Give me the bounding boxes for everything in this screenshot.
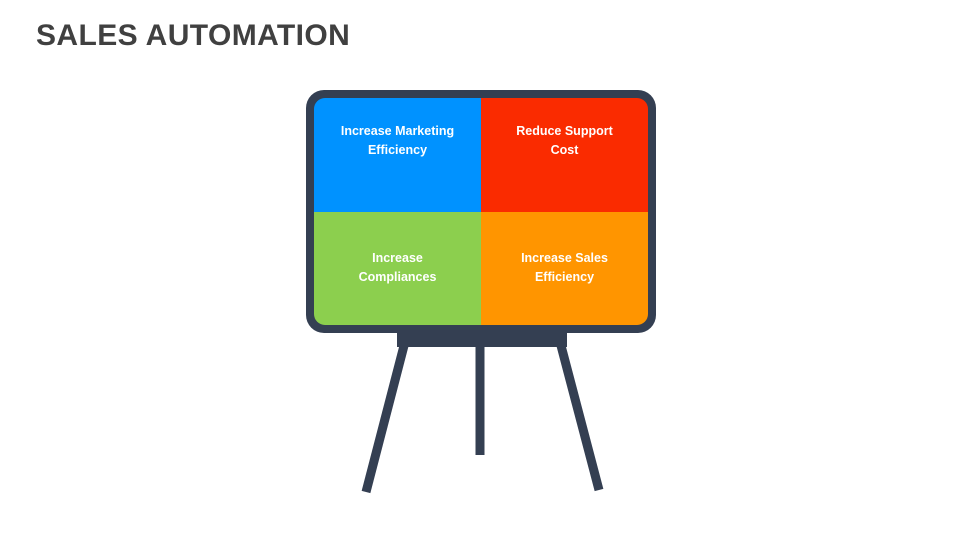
easel-tray-bar xyxy=(397,332,567,347)
quadrant-support-label: Reduce Support Cost xyxy=(491,122,638,160)
page-title: SALES AUTOMATION xyxy=(36,18,350,54)
quadrant-sales-line2: Efficiency xyxy=(535,270,594,284)
quadrant-sales[interactable]: Increase Sales Efficiency xyxy=(481,212,648,326)
quadrant-compliance-line1: Increase xyxy=(372,251,423,265)
slide-canvas: SALES AUTOMATION Increase Marketing Effi… xyxy=(0,0,960,540)
quadrant-marketing-line1: Increase Marketing xyxy=(341,124,454,138)
quadrant-marketing-line2: Efficiency xyxy=(368,143,427,157)
easel-diagram: Increase Marketing Efficiency Reduce Sup… xyxy=(280,80,680,510)
quadrant-marketing-label: Increase Marketing Efficiency xyxy=(324,122,471,160)
quadrant-compliance[interactable]: Increase Compliances xyxy=(314,212,481,326)
easel-leg-right xyxy=(559,338,599,490)
whiteboard-frame: Increase Marketing Efficiency Reduce Sup… xyxy=(306,90,656,333)
easel-leg-left xyxy=(366,338,406,492)
quadrant-support-line1: Reduce Support xyxy=(516,124,613,138)
quadrant-support[interactable]: Reduce Support Cost xyxy=(481,98,648,212)
quadrant-sales-line1: Increase Sales xyxy=(521,251,608,265)
quadrant-support-line2: Cost xyxy=(551,143,579,157)
quadrant-marketing[interactable]: Increase Marketing Efficiency xyxy=(314,98,481,212)
quadrant-grid: Increase Marketing Efficiency Reduce Sup… xyxy=(314,98,648,325)
quadrant-sales-label: Increase Sales Efficiency xyxy=(491,249,638,287)
quadrant-compliance-label: Increase Compliances xyxy=(324,249,471,287)
quadrant-compliance-line2: Compliances xyxy=(359,270,437,284)
